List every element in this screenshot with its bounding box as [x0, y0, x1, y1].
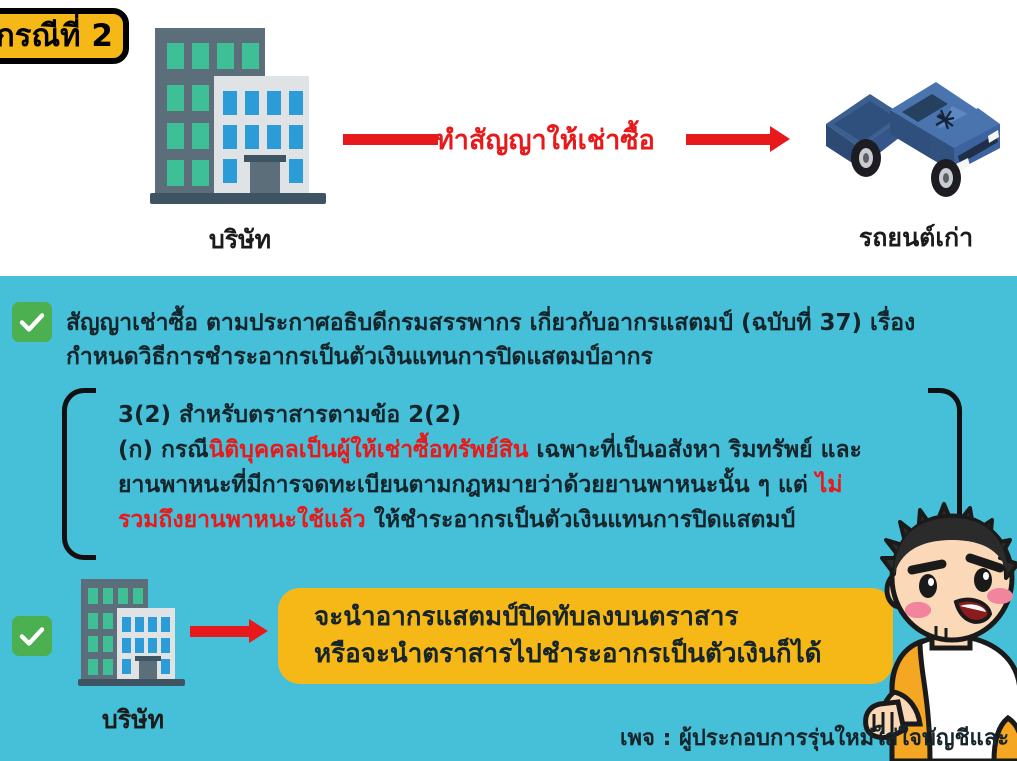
building-window [88, 636, 98, 652]
building-window [192, 43, 209, 69]
building-window [161, 638, 170, 653]
building-window [267, 91, 281, 115]
building-window [148, 638, 157, 653]
quote-line-3-highlight: ไม่ [816, 472, 843, 498]
bracket-open-icon [62, 388, 96, 560]
law-reference-text: สัญญาเช่าซื้อ ตามประกาศอธิบดีกรมสรรพากร … [66, 306, 966, 374]
building-door [250, 162, 280, 193]
building-window [167, 43, 184, 69]
building-window [245, 91, 259, 115]
company-building-icon-bottom [78, 579, 188, 691]
old-car-icon [818, 72, 1003, 207]
building-window [242, 43, 259, 69]
quote-line-2-pre: (ก) กรณี [118, 437, 209, 463]
contract-arrow-label: ทำสัญญาให้เช่าซื้อ [436, 118, 655, 161]
contract-arrow-head [770, 126, 790, 152]
building-window [122, 659, 131, 674]
building-window [192, 85, 209, 111]
building-window [192, 160, 209, 186]
building-window [118, 588, 128, 604]
building-window [167, 85, 184, 111]
building-window [161, 617, 170, 632]
building-window [167, 123, 184, 149]
contract-arrow-right-segment [686, 134, 771, 145]
infographic-page: กรณีที่ 2 [0, 0, 1017, 761]
company-building-icon [150, 28, 330, 208]
building-window [148, 617, 157, 632]
building-window [103, 659, 113, 675]
building-base [78, 679, 185, 686]
stamp-arrow-head [249, 619, 268, 643]
yellow-callout-box: จะนำอากรแสตมป์ปิดทับลงบนตราสาร หรือจะนำต… [278, 588, 893, 684]
old-car-caption: รถยนต์เก่า [826, 218, 1006, 258]
callout-text: จะนำอากรแสตมป์ปิดทับลงบนตราสาร หรือจะนำต… [278, 599, 822, 673]
quote-line-3: ยานพาหนะที่มีการจดทะเบียนตามกฎหมายว่าด้ว… [118, 468, 928, 503]
quote-line-2-highlight: นิติบุคคลเป็นผู้ให้เช่าซื้อทรัพย์สิน [209, 437, 529, 463]
footer-credit-text: เพจ : ผู้ประกอบการรุ่นใหม่ใส่ใจบัญชีและ [620, 720, 1009, 755]
check-icon [12, 616, 52, 656]
building-window [103, 588, 113, 604]
building-window [135, 617, 144, 632]
check-badge-callout [12, 616, 52, 656]
check-icon [12, 302, 52, 342]
building-window [289, 159, 303, 183]
building-window [135, 638, 144, 653]
building-window [103, 636, 113, 652]
building-window [223, 159, 237, 183]
case-number-badge: กรณีที่ 2 [0, 8, 129, 64]
quoted-regulation-text: 3(2) สำหรับตราสารตามข้อ 2(2) (ก) กรณีนิต… [118, 398, 928, 538]
building-door [139, 661, 157, 679]
quote-line-1: 3(2) สำหรับตราสารตามข้อ 2(2) [118, 398, 928, 433]
quote-line-4: รวมถึงยานพาหนะใช้แล้ว ให้ชำระอากรเป็นตัว… [118, 503, 928, 538]
quote-line-4-highlight: รวมถึงยานพาหนะใช้แล้ว [118, 507, 366, 533]
top-illustration-section: กรณีที่ 2 [0, 0, 1017, 276]
quote-line-4-post: ให้ชำระอากรเป็นตัวเงินแทนการปิดแสตมป์ [366, 507, 796, 533]
old-car-svg [818, 72, 1003, 207]
building-window [88, 588, 98, 604]
teal-content-panel: สัญญาเช่าซื้อ ตามประกาศอธิบดีกรมสรรพากร … [0, 276, 1017, 761]
building-window [223, 91, 237, 115]
building-window [167, 160, 184, 186]
case-number-label: กรณีที่ 2 [0, 21, 113, 52]
building-window [245, 125, 259, 149]
quoted-regulation-block: 3(2) สำหรับตราสารตามข้อ 2(2) (ก) กรณีนิต… [62, 388, 962, 560]
building-base [150, 193, 326, 204]
building-window [122, 617, 131, 632]
building-window [289, 91, 303, 115]
building-window [223, 125, 237, 149]
building-window [217, 43, 234, 69]
contract-arrow-left-segment [343, 134, 438, 145]
building-window [103, 613, 113, 629]
building-window [133, 588, 143, 604]
building-window [161, 659, 170, 674]
company-caption-bottom: บริษัท [78, 700, 188, 740]
building-window [192, 123, 209, 149]
building-window [267, 125, 281, 149]
building-window [122, 638, 131, 653]
check-badge-law [12, 302, 52, 342]
company-caption-top: บริษัท [150, 220, 330, 260]
quote-line-2-post: เฉพาะที่เป็นอสังหา ริมทรัพย์ และ [528, 437, 861, 463]
building-window [88, 659, 98, 675]
quote-line-3-pre: ยานพาหนะที่มีการจดทะเบียนตามกฎหมายว่าด้ว… [118, 472, 816, 498]
stamp-arrow-line [190, 626, 252, 637]
building-window [88, 613, 98, 629]
quote-line-2: (ก) กรณีนิติบุคคลเป็นผู้ให้เช่าซื้อทรัพย… [118, 433, 928, 468]
building-window [289, 125, 303, 149]
building-awning [244, 155, 286, 162]
